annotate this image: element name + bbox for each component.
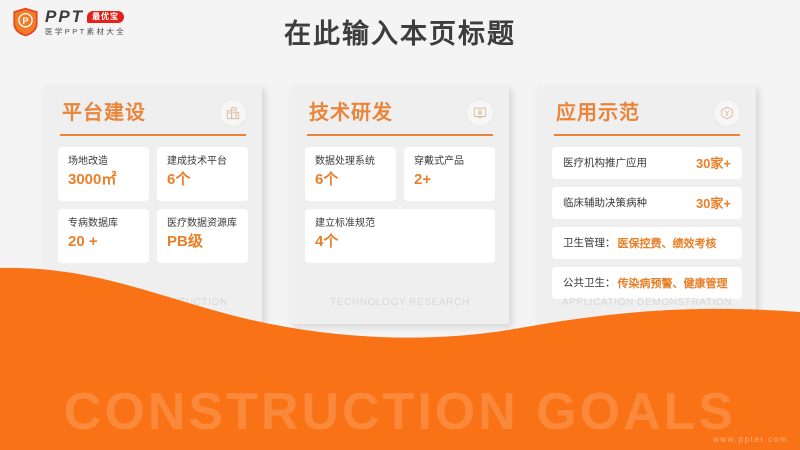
- card-technology-research[interactable]: 技术研发 数据处理系统 6个 穿戴式产品: [291, 86, 509, 324]
- stat-label: 公共卫生：: [563, 275, 616, 290]
- building-glyph: [226, 106, 240, 120]
- hexagon-glyph: [720, 106, 734, 120]
- card-divider: [60, 134, 246, 136]
- hexagon-icon: [714, 100, 740, 126]
- row-list: 医疗机构推广应用 30家+ 临床辅助决策病种 30家+ 卫生管理： 医保控费、绩…: [552, 147, 742, 299]
- stat-value: 30家+: [696, 193, 731, 212]
- stat-value: 2+: [414, 172, 485, 187]
- stat-label: 建立标准规范: [315, 218, 485, 229]
- stat-tile[interactable]: 穿戴式产品 2+: [404, 147, 495, 201]
- stat-label: 医疗机构推广应用: [563, 155, 647, 170]
- monitor-glyph: [473, 106, 487, 120]
- card-title: 平台建设: [62, 102, 146, 124]
- stat-value: 传染病预警、健康管理: [618, 275, 728, 291]
- stat-value: PB级: [167, 234, 238, 249]
- stat-row[interactable]: 临床辅助决策病种 30家+: [552, 187, 742, 219]
- stat-value: 医保控费、绩效考核: [618, 235, 717, 251]
- stat-number: 3000: [68, 171, 101, 188]
- stat-tile[interactable]: 建成技术平台 6个: [157, 147, 248, 201]
- stat-row[interactable]: 卫生管理： 医保控费、绩效考核: [552, 227, 742, 259]
- stat-unit: ㎡: [101, 171, 116, 188]
- page-title: 在此输入本页标题: [0, 18, 800, 50]
- stat-value: 6个: [315, 172, 386, 187]
- monitor-icon: [467, 100, 493, 126]
- stat-label: 医疗数据资源库: [167, 218, 238, 229]
- stat-tile[interactable]: 专病数据库 20 +: [58, 209, 149, 263]
- stat-value: 20 +: [68, 234, 139, 249]
- stat-tile[interactable]: 数据处理系统 6个: [305, 147, 396, 201]
- card-footer: APPLICATION DEMONSTRATION: [538, 297, 756, 308]
- card-header: 平台建设: [58, 100, 248, 126]
- card-title: 应用示范: [556, 102, 640, 124]
- card-divider: [554, 134, 740, 136]
- building-icon: [220, 100, 246, 126]
- stat-label: 专病数据库: [68, 218, 139, 229]
- stat-label: 场地改造: [68, 156, 139, 167]
- banner-headline: CONSTRUCTION GOALS: [0, 386, 800, 438]
- card-header: 应用示范: [552, 100, 742, 126]
- stat-tile[interactable]: 建立标准规范 4个: [305, 209, 495, 263]
- stat-label: 数据处理系统: [315, 156, 386, 167]
- slide-root: P PPT 最优宝 医学PPT素材大全 在此输入本页标题 平台建设: [0, 0, 800, 450]
- tile-grid: 场地改造 3000㎡ 建成技术平台 6个 专病数据库 20 + 医疗数据资源库 …: [58, 147, 248, 263]
- stat-value: 3000㎡: [68, 172, 139, 187]
- stat-value: 30家+: [696, 153, 731, 172]
- card-row: 平台建设 场地改造 3000㎡: [44, 86, 756, 324]
- stat-label: 穿戴式产品: [414, 156, 485, 167]
- stat-label: 临床辅助决策病种: [563, 195, 647, 210]
- stat-row[interactable]: 公共卫生： 传染病预警、健康管理: [552, 267, 742, 299]
- stat-value: 4个: [315, 234, 485, 249]
- stat-label: 卫生管理：: [563, 235, 616, 250]
- stat-tile[interactable]: 场地改造 3000㎡: [58, 147, 149, 201]
- card-platform-construction[interactable]: 平台建设 场地改造 3000㎡: [44, 86, 262, 324]
- site-watermark: www.ppter.com: [713, 435, 788, 444]
- stat-value: 6个: [167, 172, 238, 187]
- stat-row[interactable]: 医疗机构推广应用 30家+: [552, 147, 742, 179]
- card-application-demonstration[interactable]: 应用示范 医疗机构推广应用 30家+ 临床辅助决策病种 30家+: [538, 86, 756, 324]
- stat-label: 建成技术平台: [167, 156, 238, 167]
- tile-grid: 数据处理系统 6个 穿戴式产品 2+ 建立标准规范 4个: [305, 147, 495, 263]
- stat-tile[interactable]: 医疗数据资源库 PB级: [157, 209, 248, 263]
- card-divider: [307, 134, 493, 136]
- card-header: 技术研发: [305, 100, 495, 126]
- card-footer: PLATFORM CONSTRUCTION: [44, 297, 262, 308]
- card-footer: TECHNOLOGY RESEARCH: [291, 297, 509, 308]
- card-title: 技术研发: [309, 102, 393, 124]
